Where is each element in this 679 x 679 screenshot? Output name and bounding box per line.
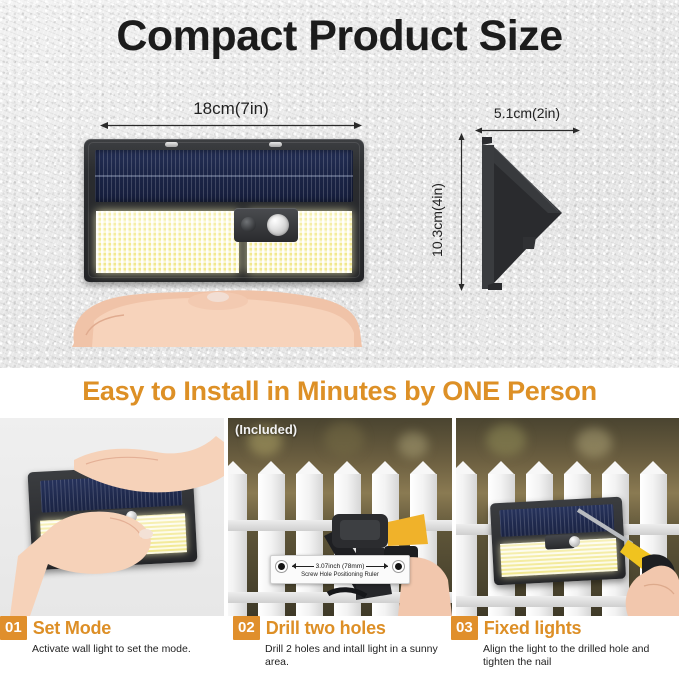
ruler-arrow-left-icon bbox=[292, 563, 296, 569]
width-dimension-label: 18cm(7in) bbox=[100, 99, 362, 119]
screw-hole-positioning-ruler: 3.07inch (78mm) Screw Hole Positioning R… bbox=[270, 555, 410, 584]
step-caption-03: 03 Fixed lights Align the light to the d… bbox=[448, 616, 679, 679]
step-caption-01: 01 Set Mode Activate wall light to set t… bbox=[0, 616, 228, 679]
width-dimension-arrow-icon bbox=[100, 121, 362, 130]
mounting-screw-icon bbox=[165, 142, 178, 147]
ruler-measure-row: 3.07inch (78mm) bbox=[292, 560, 388, 572]
screw-hole-left-icon bbox=[276, 561, 287, 572]
drill-and-hand bbox=[228, 418, 452, 616]
install-panel-drill-holes: (Included) bbox=[228, 418, 452, 616]
step-description: Drill 2 holes and intall light in a sunn… bbox=[233, 643, 442, 670]
install-step-captions: 01 Set Mode Activate wall light to set t… bbox=[0, 616, 679, 679]
step-header: 03 Fixed lights bbox=[451, 616, 673, 640]
ruler-arrow-right-icon bbox=[384, 563, 388, 569]
step-number-badge: 02 bbox=[233, 616, 260, 640]
sensor-module bbox=[234, 208, 298, 242]
step-header: 02 Drill two holes bbox=[233, 616, 442, 640]
compact-product-size-section: Compact Product Size 18cm(7in) 5.1cm(2in… bbox=[0, 0, 679, 368]
install-panels: (Included) bbox=[0, 418, 679, 616]
screwdriver-and-hand bbox=[456, 418, 679, 616]
included-label: (Included) bbox=[235, 422, 297, 437]
step-header: 01 Set Mode bbox=[0, 616, 222, 640]
height-dimension-label: 10.3cm(4in) bbox=[429, 160, 445, 280]
motion-sensor-icon bbox=[267, 214, 289, 236]
install-panel-fixed-lights bbox=[456, 418, 679, 616]
light-sensor-icon bbox=[241, 217, 256, 232]
step-title: Drill two holes bbox=[266, 618, 386, 639]
height-dimension-arrow-icon bbox=[457, 133, 466, 291]
mounting-screw-icon bbox=[269, 142, 282, 147]
page-title: Compact Product Size bbox=[0, 12, 679, 61]
install-heading: Easy to Install in Minutes by ONE Person bbox=[0, 368, 679, 407]
product-side-view bbox=[468, 133, 593, 293]
step-description: Align the light to the drilled hole and … bbox=[451, 643, 673, 670]
depth-dimension-label: 5.1cm(2in) bbox=[468, 105, 586, 121]
solar-panel bbox=[95, 150, 353, 202]
step-number-badge: 03 bbox=[451, 616, 478, 640]
ruler-measure-text: 3.07inch (78mm) bbox=[314, 563, 367, 570]
step-number-badge: 01 bbox=[0, 616, 27, 640]
ruler-caption: Screw Hole Positioning Ruler bbox=[271, 572, 409, 578]
depth-dimension-arrow-icon bbox=[475, 126, 580, 135]
step-description: Activate wall light to set the mode. bbox=[0, 643, 222, 656]
product-infographic: Compact Product Size 18cm(7in) 5.1cm(2in… bbox=[0, 0, 679, 679]
step-title: Fixed lights bbox=[484, 618, 582, 639]
screw-hole-right-icon bbox=[393, 561, 404, 572]
product-front-view bbox=[84, 139, 364, 339]
step-caption-02: 02 Drill two holes Drill 2 holes and int… bbox=[228, 616, 448, 679]
easy-install-section: Easy to Install in Minutes by ONE Person bbox=[0, 368, 679, 679]
open-hand-holding-product bbox=[66, 247, 366, 347]
step-title: Set Mode bbox=[33, 618, 111, 639]
hands-gesture bbox=[0, 418, 224, 616]
install-panel-set-mode bbox=[0, 418, 224, 616]
